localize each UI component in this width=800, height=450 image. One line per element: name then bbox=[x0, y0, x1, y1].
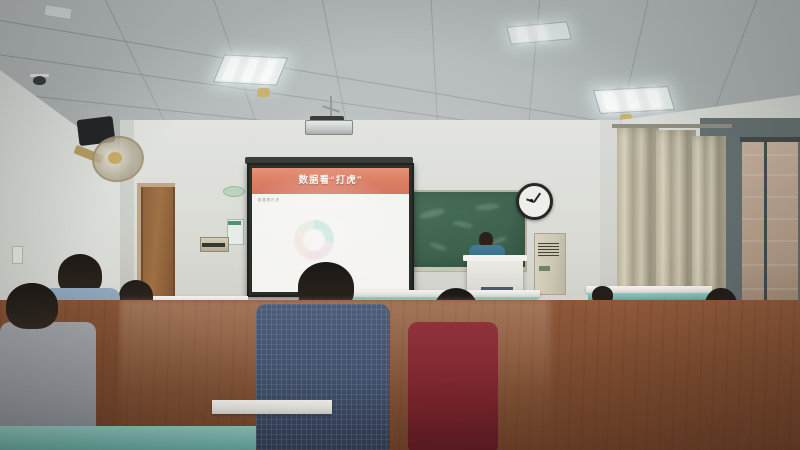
student-blazer-body-front bbox=[256, 304, 390, 450]
podium-surface bbox=[463, 255, 527, 261]
bench-foreground bbox=[0, 426, 256, 450]
wall-clock bbox=[516, 183, 553, 220]
window-mullion bbox=[764, 140, 767, 315]
student-grey-hair-front bbox=[6, 283, 58, 329]
classroom-photo: 数据看“打虎” 数据看打虎 bbox=[0, 0, 800, 450]
ceiling-sensor-1 bbox=[257, 88, 270, 97]
ac-vent bbox=[538, 243, 559, 257]
window-frame bbox=[740, 137, 800, 142]
ac-display bbox=[539, 266, 550, 271]
ceiling-light-3 bbox=[593, 86, 675, 114]
security-camera-icon bbox=[33, 76, 46, 85]
student-red-body-front bbox=[408, 322, 498, 450]
wall-notice-card-header bbox=[228, 221, 241, 225]
wall-plaque-text bbox=[202, 243, 225, 247]
projector-icon bbox=[305, 120, 353, 135]
wall-notice-left bbox=[12, 246, 23, 264]
desk-foreground-top bbox=[212, 400, 332, 414]
fan-hub bbox=[108, 152, 122, 164]
wall-sign-oval bbox=[223, 186, 245, 197]
window-glass bbox=[742, 140, 798, 315]
ceiling-light-1 bbox=[213, 54, 288, 85]
